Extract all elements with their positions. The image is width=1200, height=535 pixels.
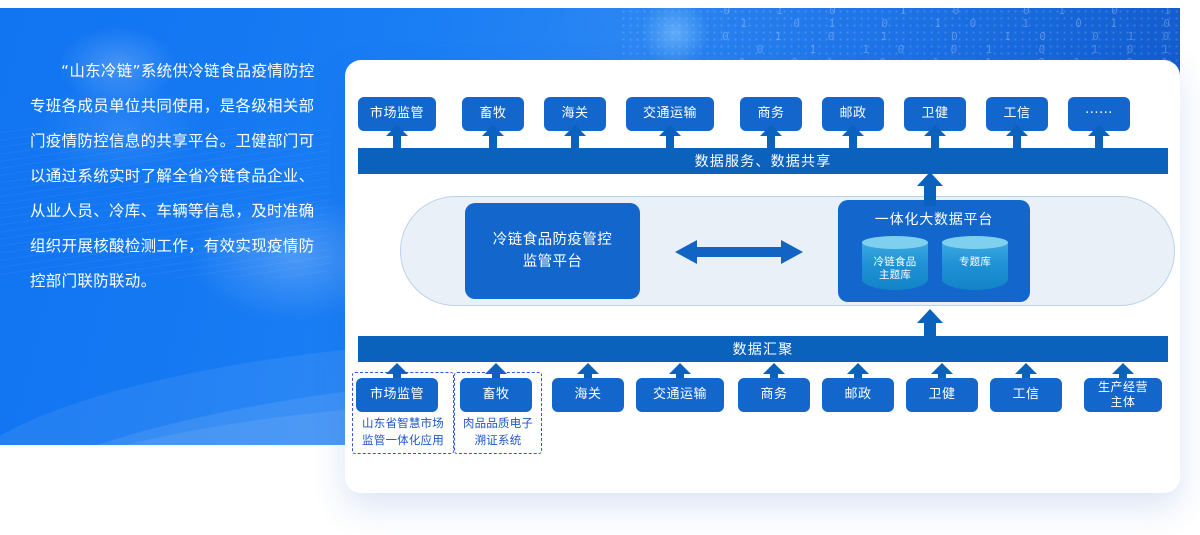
data-gather-bar: 数据汇聚 xyxy=(358,336,1168,362)
description-paragraph: “山东冷链”系统供冷链食品疫情防控专班各成员单位共同使用，是各级相关部门疫情防控… xyxy=(30,54,320,299)
bottom-source-3[interactable]: 海关 xyxy=(552,378,624,412)
cylinder-top xyxy=(942,236,1008,249)
cold-chain-supervision-platform[interactable]: 冷链食品防疫管控 监管平台 xyxy=(465,203,640,299)
database-label: 冷链食品 主题库 xyxy=(862,256,928,282)
database-label: 专题库 xyxy=(942,256,1008,269)
glow-highlight-top xyxy=(640,8,710,68)
bottom-source-8[interactable]: 工信 xyxy=(990,378,1062,412)
arrow-up-to-share-bar-icon xyxy=(917,172,943,206)
bottom-source-5[interactable]: 商务 xyxy=(738,378,810,412)
big-data-platform[interactable]: 一体化大数据平台 冷链食品 主题库 专题库 xyxy=(838,200,1030,302)
cylinder-top xyxy=(862,236,928,249)
data-share-bar: 数据服务、数据共享 xyxy=(358,148,1168,174)
bottom-source-9[interactable]: 生产经营 主体 xyxy=(1084,378,1162,412)
sub-system-label-market: 山东省智慧市场 监管一体化应用 xyxy=(354,415,452,449)
bottom-source-6[interactable]: 邮政 xyxy=(822,378,894,412)
database-cylinder-cold-chain[interactable]: 冷链食品 主题库 xyxy=(862,236,928,292)
database-cylinder-topic[interactable]: 专题库 xyxy=(942,236,1008,292)
big-data-platform-title: 一体化大数据平台 xyxy=(838,209,1030,229)
sub-system-label-meat: 肉品品质电子 溯证系统 xyxy=(456,415,540,449)
screenshot-root: 0 1 0 1 0 0 1 0 1 1 0 1 0 1 0 1 0 1 0 0 … xyxy=(0,0,1200,535)
bottom-source-7[interactable]: 卫健 xyxy=(906,378,978,412)
bottom-source-4[interactable]: 交通运输 xyxy=(636,378,724,412)
bidirectional-arrow-icon xyxy=(675,240,803,264)
